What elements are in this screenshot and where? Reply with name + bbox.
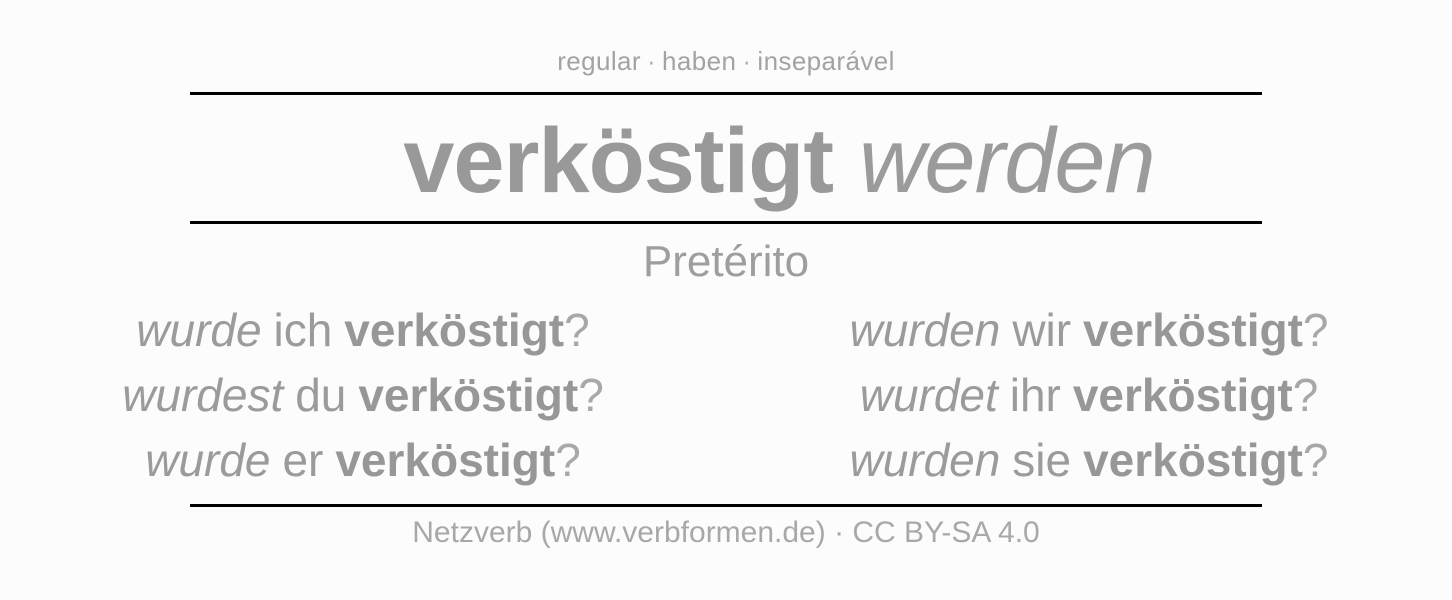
auxiliary-word: wurden [850,304,1001,356]
participle-word: verköstigt [1083,434,1303,486]
conjugation-row: wurdestduverköstigt? [0,363,726,428]
conjugation-row: wurdeichverköstigt? [0,298,726,363]
conjugation-column-singular: wurdeichverköstigt? wurdestduverköstigt?… [0,298,726,498]
auxiliary-word: wurden [849,434,1000,486]
attribute-separability: inseparável [757,46,894,76]
question-mark: ? [555,434,581,486]
german-flag-icon [297,133,359,195]
question-mark: ? [1293,369,1319,421]
tense-title: Pretérito [0,237,1452,287]
pronoun-word: sie [1012,434,1071,486]
conjugation-grid: wurdeichverköstigt? wurdestduverköstigt?… [0,298,1452,498]
conjugation-column-plural: wurdenwirverköstigt? wurdetihrverköstigt… [726,298,1452,498]
pronoun-word: ich [274,304,333,356]
auxiliary-word: wurde [145,434,270,486]
question-mark: ? [564,304,590,356]
conjugation-row: wurdeerverköstigt? [0,428,726,493]
question-mark: ? [1303,304,1329,356]
meta-separator-1: · [641,46,662,76]
divider-top [190,92,1262,95]
pronoun-word: er [282,434,323,486]
attribute-auxiliary: haben [662,46,736,76]
attribute-regularity: regular [557,46,641,76]
participle-word: verköstigt [1083,304,1303,356]
question-mark: ? [1303,434,1329,486]
divider-middle [190,221,1262,224]
pronoun-word: du [295,369,346,421]
participle-word: verköstigt [358,369,578,421]
pronoun-word: ihr [1010,369,1061,421]
auxiliary-word: wurde [136,304,261,356]
auxiliary-word: wurdest [122,369,283,421]
auxiliary-word: wurdet [860,369,998,421]
question-mark: ? [578,369,604,421]
pronoun-word: wir [1012,304,1071,356]
verb-conjugation-card: regular·haben·inseparável verköstigt wer… [0,0,1452,600]
participle-word: verköstigt [1073,369,1293,421]
page-title: verköstigt [403,115,833,207]
participle-word: verköstigt [335,434,555,486]
meta-separator-2: · [736,46,757,76]
divider-bottom [190,504,1262,507]
footer-attribution: Netzverb (www.verbformen.de) · CC BY-SA … [0,516,1452,550]
conjugation-row: wurdensieverköstigt? [726,428,1452,493]
headline-auxiliary: werden [859,115,1155,207]
participle-word: verköstigt [344,304,564,356]
verb-attributes: regular·haben·inseparável [0,46,1452,77]
conjugation-row: wurdetihrverköstigt? [726,363,1452,428]
conjugation-row: wurdenwirverköstigt? [726,298,1452,363]
headline: verköstigt werden [0,104,1452,218]
